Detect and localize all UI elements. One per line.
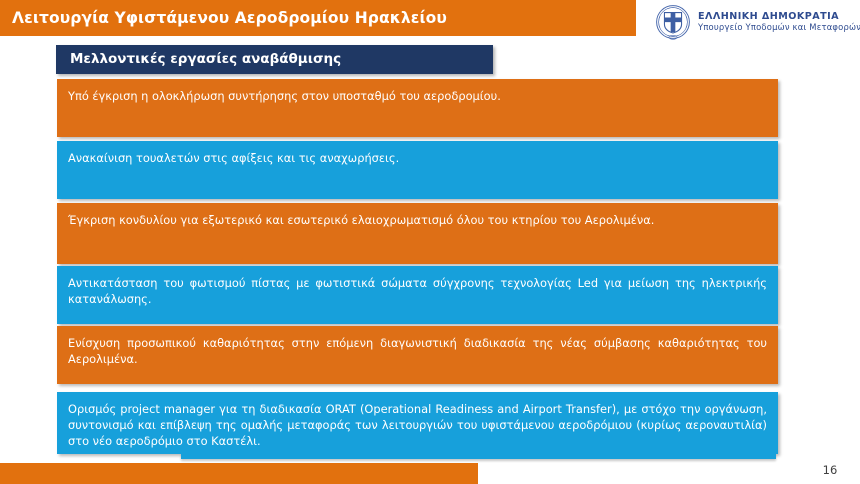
greek-republic-coat-of-arms-icon bbox=[655, 4, 691, 40]
page-title: Λειτουργία Υφιστάμενου Αεροδρομίου Ηρακλ… bbox=[12, 0, 447, 36]
content-box: Υπό έγκριση η ολοκλήρωση συντήρησης στον… bbox=[57, 79, 778, 137]
content-box: Αντικατάσταση του φωτισμού πίστας με φωτ… bbox=[57, 266, 778, 324]
content-box-text: Ενίσχυση προσωπικού καθαριότητας στην επ… bbox=[68, 335, 767, 367]
content-box-text: Έγκριση κονδυλίου για εξωτερικό και εσωτ… bbox=[68, 212, 767, 228]
content-box: Ενίσχυση προσωπικού καθαριότητας στην επ… bbox=[57, 326, 778, 384]
content-box: Έγκριση κονδυλίου για εξωτερικό και εσωτ… bbox=[57, 203, 778, 264]
content-box-text: Υπό έγκριση η ολοκλήρωση συντήρησης στον… bbox=[68, 88, 767, 104]
footer-rule bbox=[181, 453, 776, 459]
content-box: Ορισμός project manager για τη διαδικασί… bbox=[57, 392, 778, 454]
header-bar: Λειτουργία Υφιστάμενου Αεροδρομίου Ηρακλ… bbox=[0, 0, 636, 36]
ministry-name-primary: ΕΛΛΗΝΙΚΗ ΔΗΜΟΚΡΑΤΙΑ bbox=[698, 11, 860, 22]
section-heading: Μελλοντικές εργασίες αναβάθμισης bbox=[56, 45, 493, 74]
section-heading-label: Μελλοντικές εργασίες αναβάθμισης bbox=[70, 45, 341, 74]
content-box-text: Αντικατάσταση του φωτισμού πίστας με φωτ… bbox=[68, 275, 767, 307]
content-box-text: Ανακαίνιση τουαλετών στις αφίξεις και τι… bbox=[68, 150, 767, 166]
page-number: 16 bbox=[818, 463, 842, 477]
content-box: Ανακαίνιση τουαλετών στις αφίξεις και τι… bbox=[57, 141, 778, 199]
ministry-logo-text: ΕΛΛΗΝΙΚΗ ΔΗΜΟΚΡΑΤΙΑ Υπουργείο Υποδομών κ… bbox=[698, 11, 860, 33]
footer-bar bbox=[0, 463, 478, 484]
ministry-logo: ΕΛΛΗΝΙΚΗ ΔΗΜΟΚΡΑΤΙΑ Υπουργείο Υποδομών κ… bbox=[655, 2, 860, 42]
content-box-text: Ορισμός project manager για τη διαδικασί… bbox=[68, 401, 767, 450]
ministry-name-secondary: Υπουργείο Υποδομών και Μεταφορών bbox=[698, 23, 860, 33]
